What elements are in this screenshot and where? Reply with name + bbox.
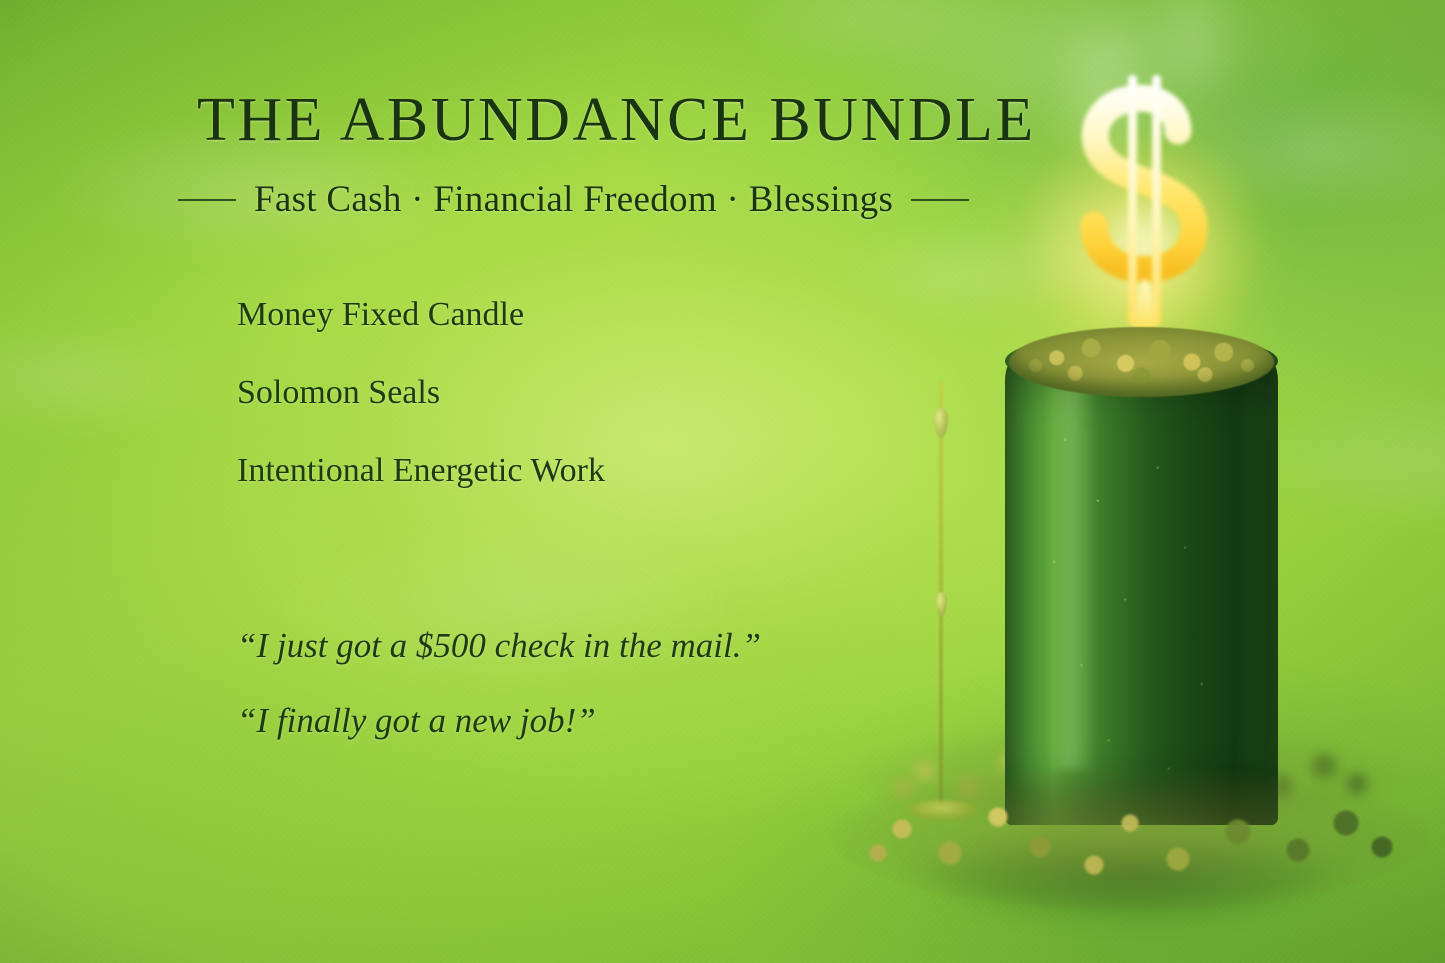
promo-subtitle: Fast Cash · Financial Freedom · Blessing… xyxy=(254,178,893,221)
offer-list-item: Intentional Energetic Work xyxy=(237,454,605,488)
testimonial-list: “I just got a $500 check in the mail.” “… xyxy=(237,628,761,778)
flame-group xyxy=(1055,35,1235,365)
promo-subtitle-row: Fast Cash · Financial Freedom · Blessing… xyxy=(178,178,1046,221)
offer-list: Money Fixed Candle Solomon Seals Intenti… xyxy=(237,298,605,532)
divider-rule-left xyxy=(178,199,236,201)
promo-title: THE ABUNDANCE BUNDLE xyxy=(197,85,1036,156)
offer-list-item: Solomon Seals xyxy=(237,376,605,410)
promo-graphic: THE ABUNDANCE BUNDLE Fast Cash · Financi… xyxy=(0,0,1445,963)
testimonial-quote: “I finally got a new job!” xyxy=(237,703,761,738)
promo-text-block: THE ABUNDANCE BUNDLE Fast Cash · Financi… xyxy=(0,0,1010,963)
herb-crown-on-candle xyxy=(1009,327,1274,397)
green-pillar-candle xyxy=(1005,355,1278,825)
offer-list-item: Money Fixed Candle xyxy=(237,298,605,332)
testimonial-quote: “I just got a $500 check in the mail.” xyxy=(237,628,761,663)
candle-herb-speckles xyxy=(1005,355,1278,825)
divider-rule-right xyxy=(911,199,969,201)
